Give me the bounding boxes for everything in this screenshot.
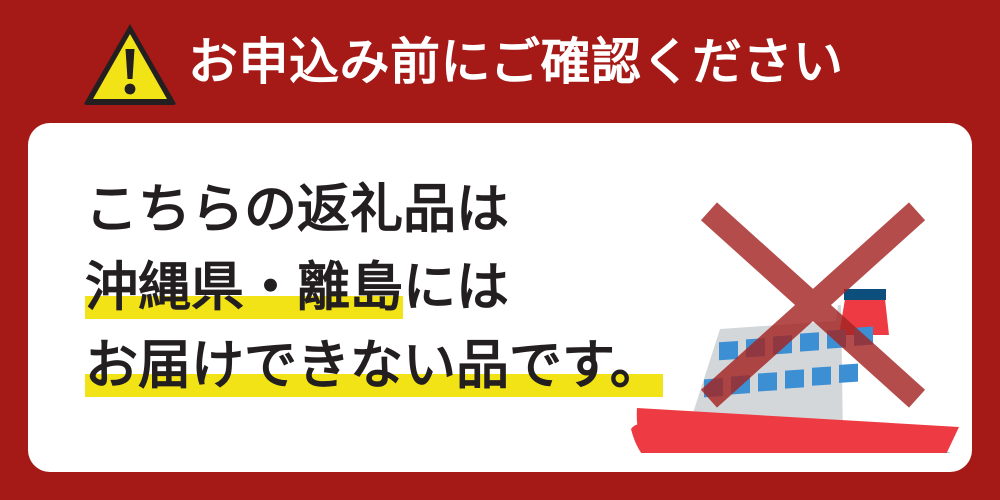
notice-line-2-segment-2: には <box>403 258 509 317</box>
notice-line-3: お届けできない品です。 <box>85 327 605 405</box>
page-title: お申込み前にご確認ください <box>188 37 844 87</box>
warning-triangle-icon <box>82 17 178 107</box>
notice-line-1: こちらの返礼品は <box>85 171 605 249</box>
no-ship-delivery-illustration <box>623 153 973 453</box>
notice-line-2: 沖縄県・離島には <box>85 249 605 327</box>
notice-line-1-segment-1: こちらの返礼品は <box>85 180 509 239</box>
notice-text-block: こちらの返礼品は 沖縄県・離島には お届けできない品です。 <box>85 171 605 405</box>
notice-card: こちらの返礼品は 沖縄県・離島には お届けできない品です。 <box>28 123 972 472</box>
notice-banner: お申込み前にご確認ください こちらの返礼品は 沖縄県・離島には お届けできない品… <box>0 0 1000 500</box>
banner-header: お申込み前にご確認ください <box>0 0 1000 123</box>
notice-line-2-highlighted-segment: 沖縄県・離島 <box>85 258 403 319</box>
notice-line-3-highlighted-segment: お届けできない品です。 <box>85 336 663 397</box>
